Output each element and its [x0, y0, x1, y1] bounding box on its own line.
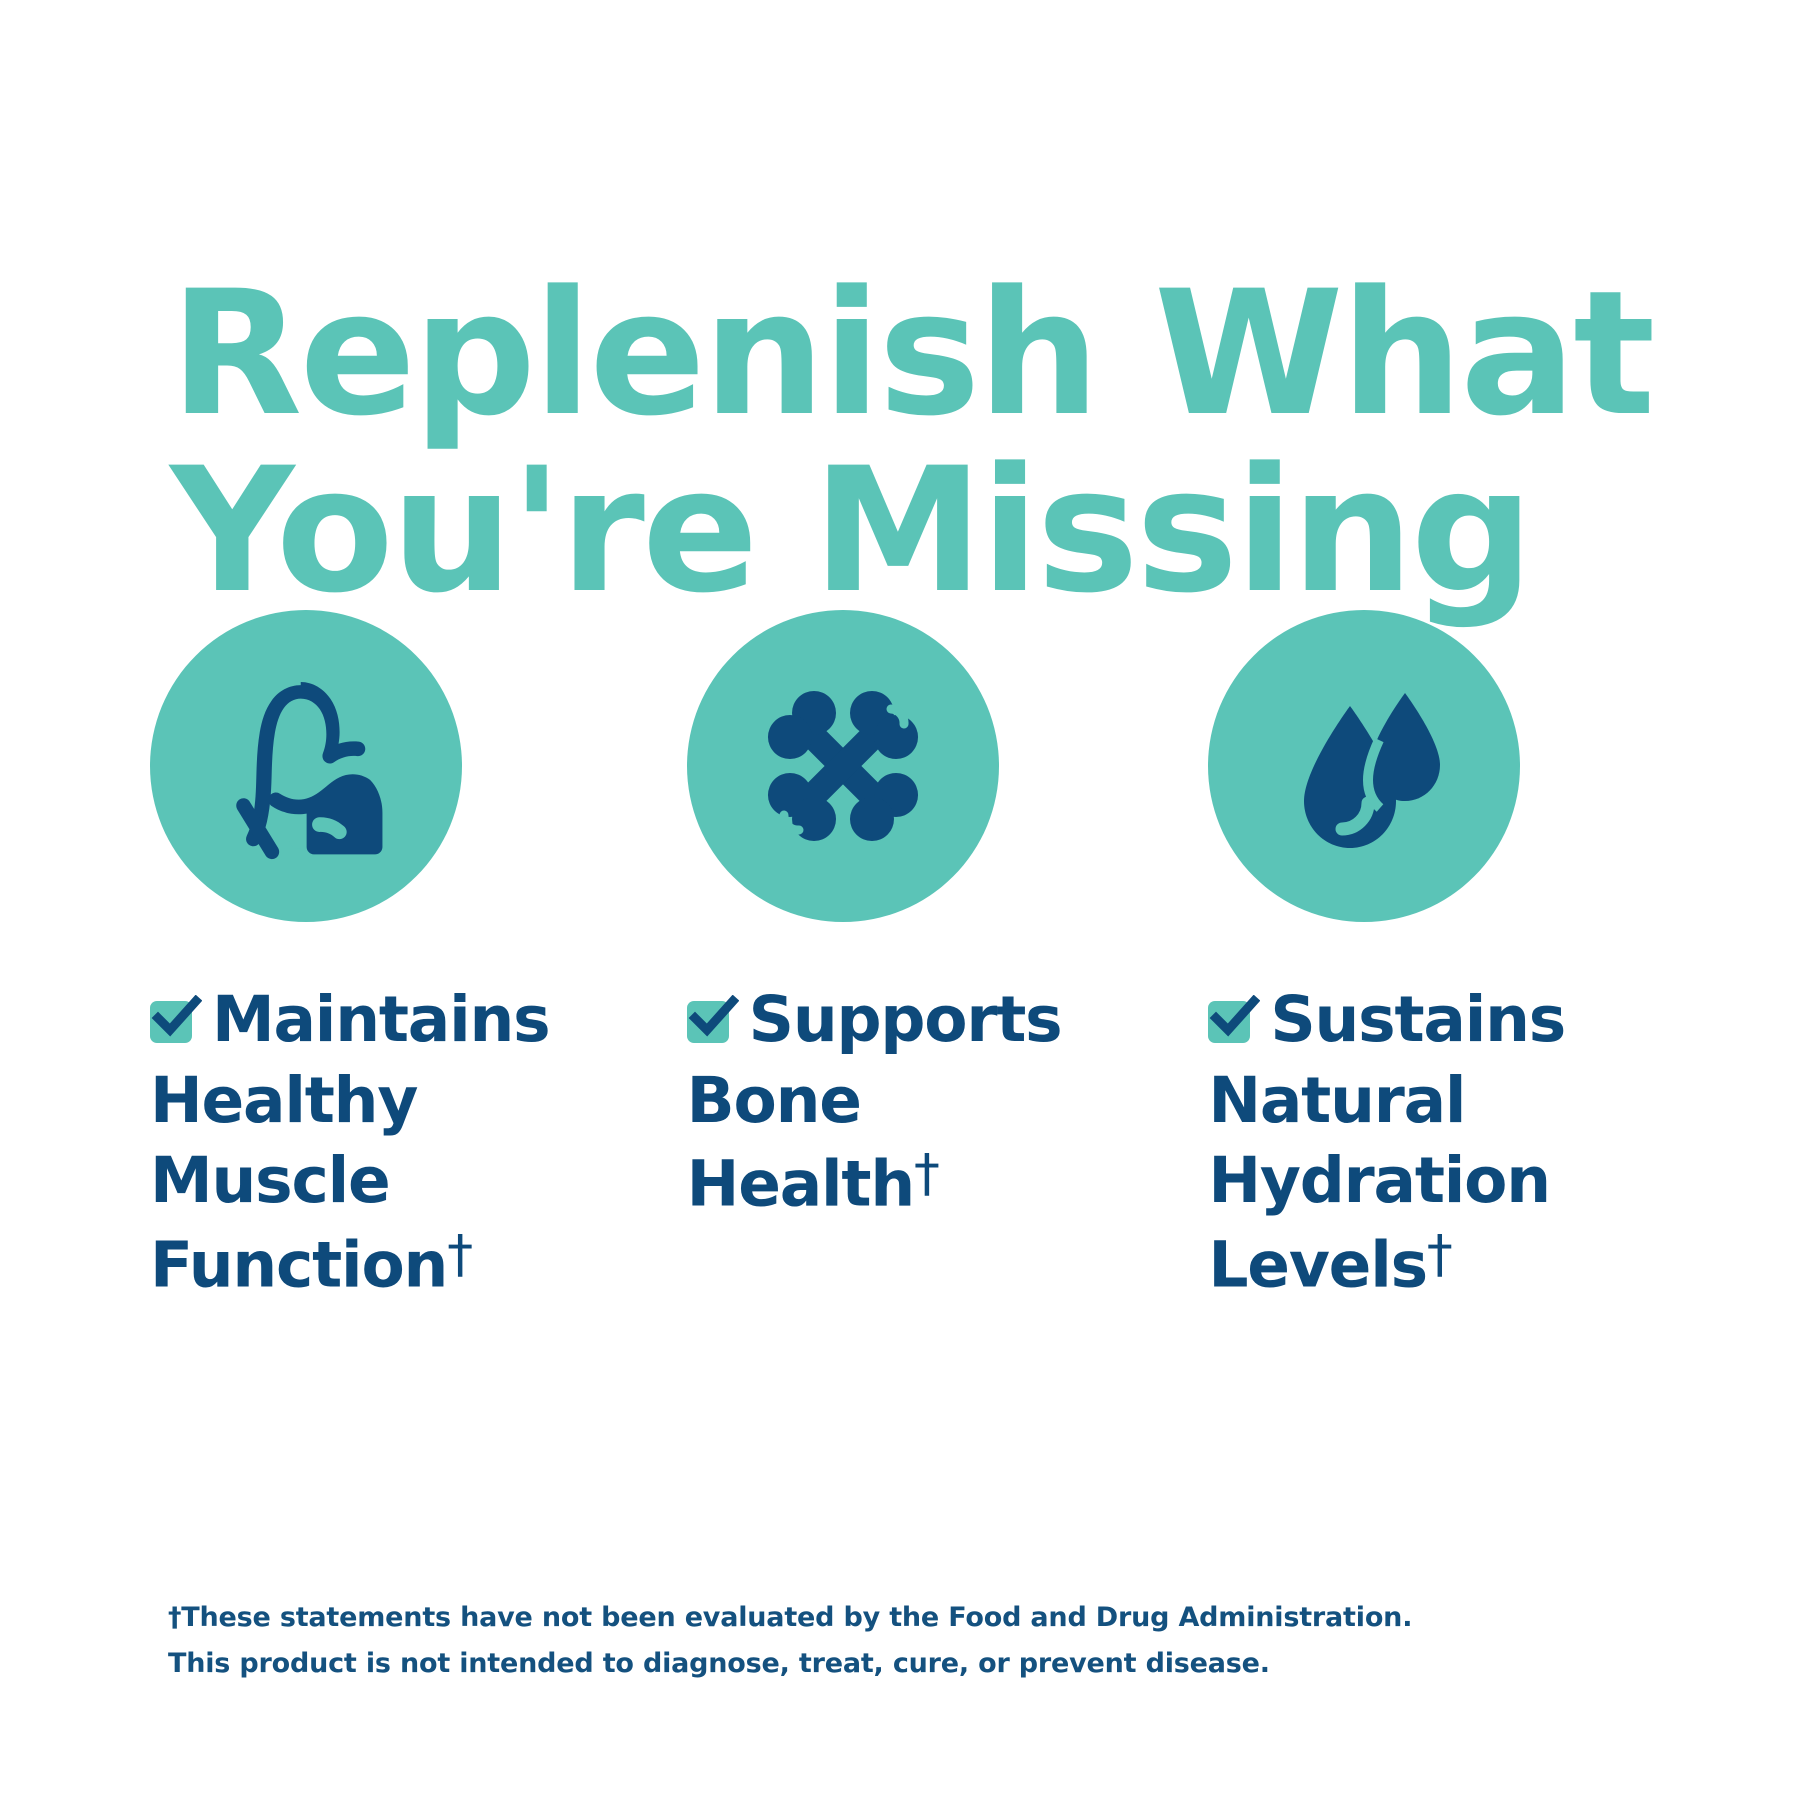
benefit-text: Supports Bone Health† [687, 980, 1062, 1225]
headline-line-2: You're Missing [170, 442, 1650, 619]
benefit-column-muscle: Maintains Healthy Muscle Function† [150, 610, 592, 1306]
benefit-icon-circle [1208, 610, 1520, 922]
disclaimer: †These statements have not been evaluate… [168, 1595, 1412, 1688]
page-title: Replenish What You're Missing [170, 265, 1650, 619]
benefit-line-1: Maintains [212, 983, 549, 1056]
water-droplets-icon [1264, 666, 1464, 866]
checkbox-checked-icon[interactable] [1208, 997, 1254, 1043]
benefit-icon-circle [150, 610, 462, 922]
benefit-line-1: Sustains [1270, 983, 1565, 1056]
dagger-symbol: † [1427, 1225, 1453, 1285]
disclaimer-line-2: This product is not intended to diagnose… [168, 1641, 1412, 1687]
benefit-line-1: Supports [749, 983, 1062, 1056]
checkbox-checked-icon[interactable] [687, 997, 733, 1043]
benefit-icon-circle [687, 610, 999, 922]
benefit-line-2: Healthy [150, 1064, 417, 1137]
benefit-line-3: Hydration [1208, 1144, 1550, 1217]
flexed-biceps-icon [201, 661, 411, 871]
crossed-bones-icon [743, 666, 943, 866]
benefit-line-2: Natural [1208, 1064, 1465, 1137]
checkbox-checked-icon[interactable] [150, 997, 196, 1043]
benefit-text: Sustains Natural Hydration Levels† [1208, 980, 1565, 1306]
benefit-column-bone: Supports Bone Health† [687, 610, 1129, 1306]
benefit-line-3: Health [687, 1148, 914, 1221]
benefit-line-3: Muscle [150, 1144, 390, 1217]
benefit-line-4: Function [150, 1228, 447, 1301]
disclaimer-line-1: †These statements have not been evaluate… [168, 1595, 1412, 1641]
benefit-column-hydration: Sustains Natural Hydration Levels† [1208, 610, 1650, 1306]
dagger-symbol: † [447, 1225, 473, 1285]
benefit-line-2: Bone [687, 1064, 861, 1137]
benefits-row: Maintains Healthy Muscle Function† [150, 610, 1650, 1306]
benefit-text: Maintains Healthy Muscle Function† [150, 980, 549, 1306]
dagger-symbol: † [914, 1144, 940, 1204]
marketing-graphic-canvas: Replenish What You're Missing [0, 0, 1800, 1800]
headline-line-1: Replenish What [170, 265, 1650, 442]
benefit-line-4: Levels [1208, 1228, 1427, 1301]
